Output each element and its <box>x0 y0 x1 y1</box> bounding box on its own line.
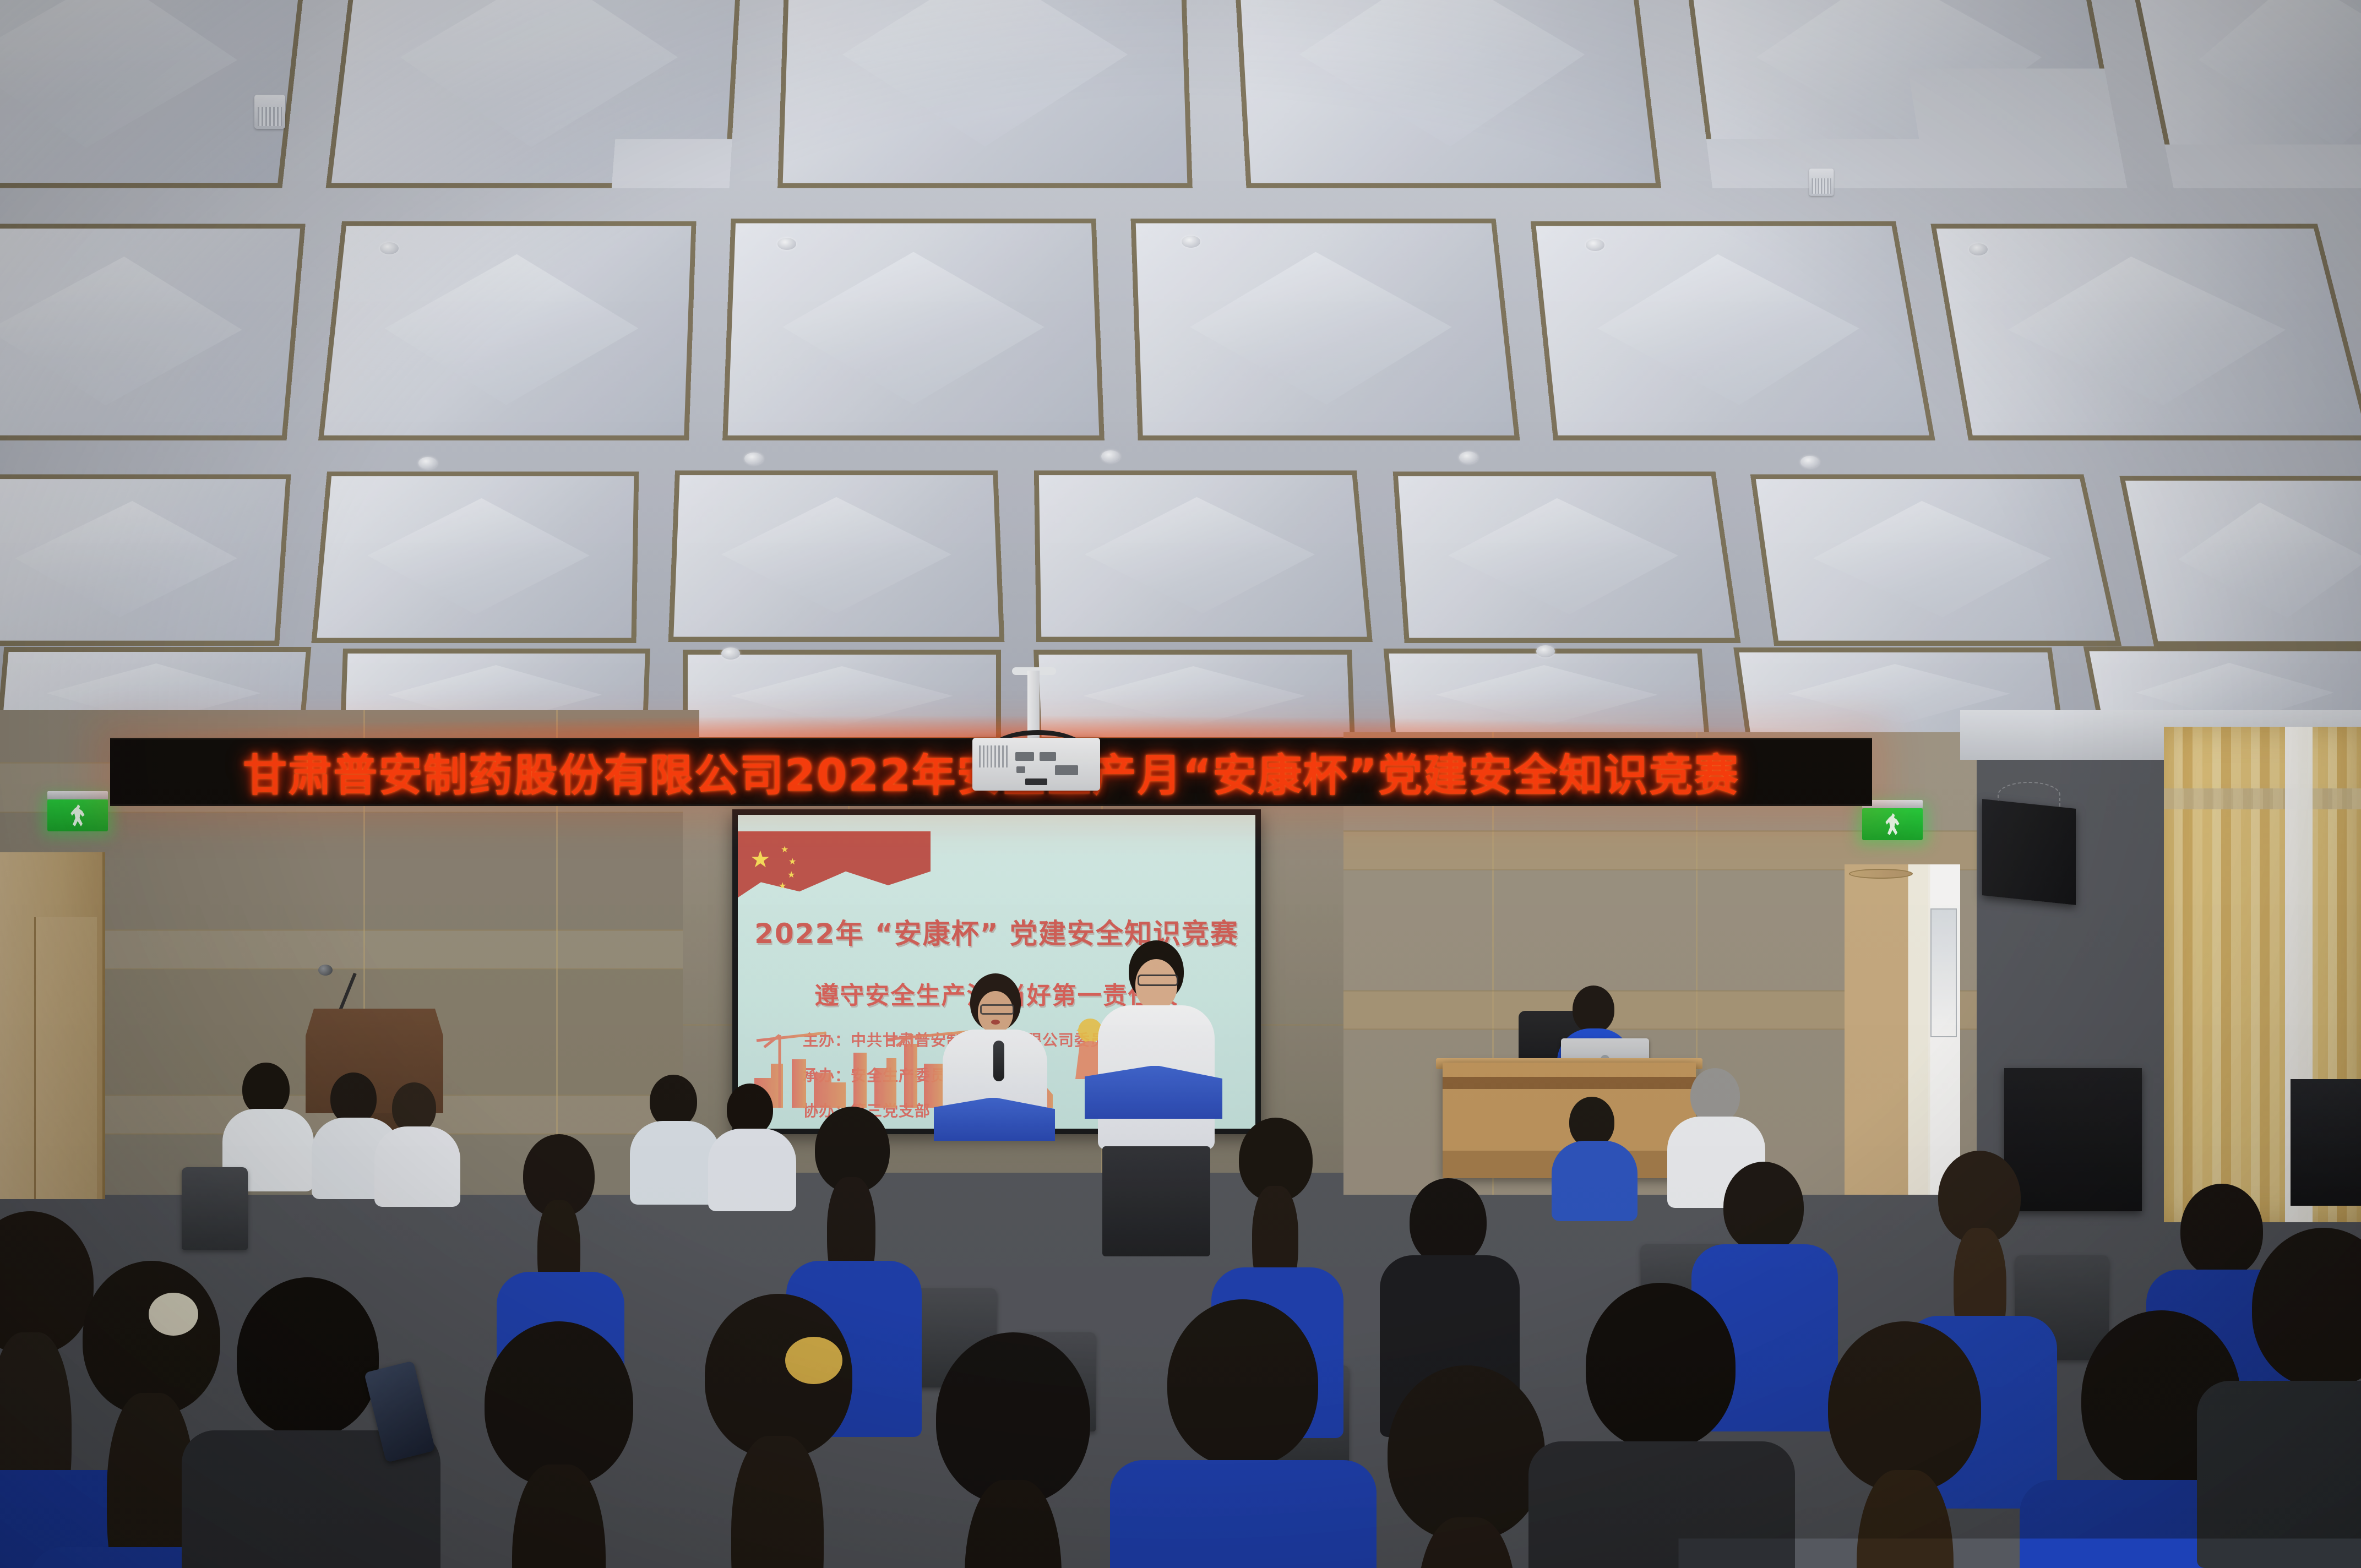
ceiling-coffer <box>683 650 1001 742</box>
ceiling-downlight <box>1101 450 1120 462</box>
coffered-ceiling <box>0 0 2361 749</box>
running-man-icon <box>1884 813 1901 835</box>
air-diffuser <box>254 95 285 129</box>
conference-hall-photo: ★ ★ ★ ★ ★ 2022年 “安康杯” 党建安全知识竞赛 遵守安全生产法 当… <box>0 0 2361 1568</box>
chinese-flag-graphic: ★ ★ ★ ★ ★ <box>738 831 931 908</box>
ceiling-coffer <box>1680 0 2127 188</box>
ceiling-coffer <box>668 471 1005 642</box>
lectern-mic-head <box>318 965 333 976</box>
ceiling-coffer <box>1131 219 1520 440</box>
ceiling-coffer <box>1033 650 1355 742</box>
equipment-cabinet <box>2004 1068 2142 1211</box>
ceiling-downlight <box>1969 243 1988 255</box>
floor-speaker <box>2291 1079 2361 1206</box>
eyeglasses <box>1138 974 1178 986</box>
ceiling-coffer <box>2119 476 2361 646</box>
air-diffuser <box>1809 168 1834 196</box>
ceiling-downlight <box>721 647 740 660</box>
ceiling-coffer <box>1384 649 1710 741</box>
chair[interactable] <box>182 1167 248 1250</box>
hair-scrunchie <box>785 1337 842 1384</box>
ceiling-coffer <box>318 221 697 440</box>
ceiling-downlight <box>1182 236 1200 248</box>
wall-speaker <box>1982 799 2076 905</box>
ceiling-coffer <box>311 472 639 643</box>
ceiling-coffer <box>1750 475 2121 646</box>
left-door[interactable] <box>0 852 105 1199</box>
slide-title-line1: 2022年 “安康杯” 党建安全知识竞赛 <box>738 912 1255 951</box>
ceiling-coffer <box>0 0 310 188</box>
ceiling-coffer <box>1930 224 2361 440</box>
ceiling-downlight <box>1586 239 1604 251</box>
hair-scrunchie <box>149 1293 198 1336</box>
ceiling-coffer <box>777 0 1193 188</box>
exit-sign-icon-left <box>47 799 108 831</box>
ceiling-coffer <box>0 475 291 646</box>
dark-trousers <box>1102 1146 1210 1256</box>
handheld-microphone <box>993 1041 1004 1081</box>
door-leaf <box>1849 869 1913 879</box>
ceiling-coffer <box>1393 472 1741 643</box>
exit-sign-icon-right <box>1862 808 1923 840</box>
ceiling-coffer <box>1034 471 1373 642</box>
ceiling-coffer <box>722 219 1105 440</box>
ceiling-coffer <box>1531 221 1935 440</box>
ceiling-coffer <box>326 0 744 188</box>
ceiling-downlight <box>380 242 399 254</box>
ceiling-coffer <box>0 224 306 440</box>
ceiling-downlight <box>1536 645 1555 657</box>
ceiling-downlight <box>744 453 763 465</box>
ceiling-projector <box>972 738 1100 791</box>
ceiling-downlight <box>1459 451 1478 464</box>
projector-vent <box>979 745 1008 767</box>
ceiling-downlight <box>418 457 437 469</box>
eyeglasses <box>980 1004 1014 1015</box>
running-man-icon <box>69 804 86 826</box>
corridor-window <box>1930 908 1957 1037</box>
ceiling-downlight <box>777 238 796 250</box>
right-door-open[interactable] <box>1845 864 1960 1195</box>
ceiling-coffer <box>1232 0 1661 188</box>
ceiling-downlight <box>1800 456 1819 468</box>
